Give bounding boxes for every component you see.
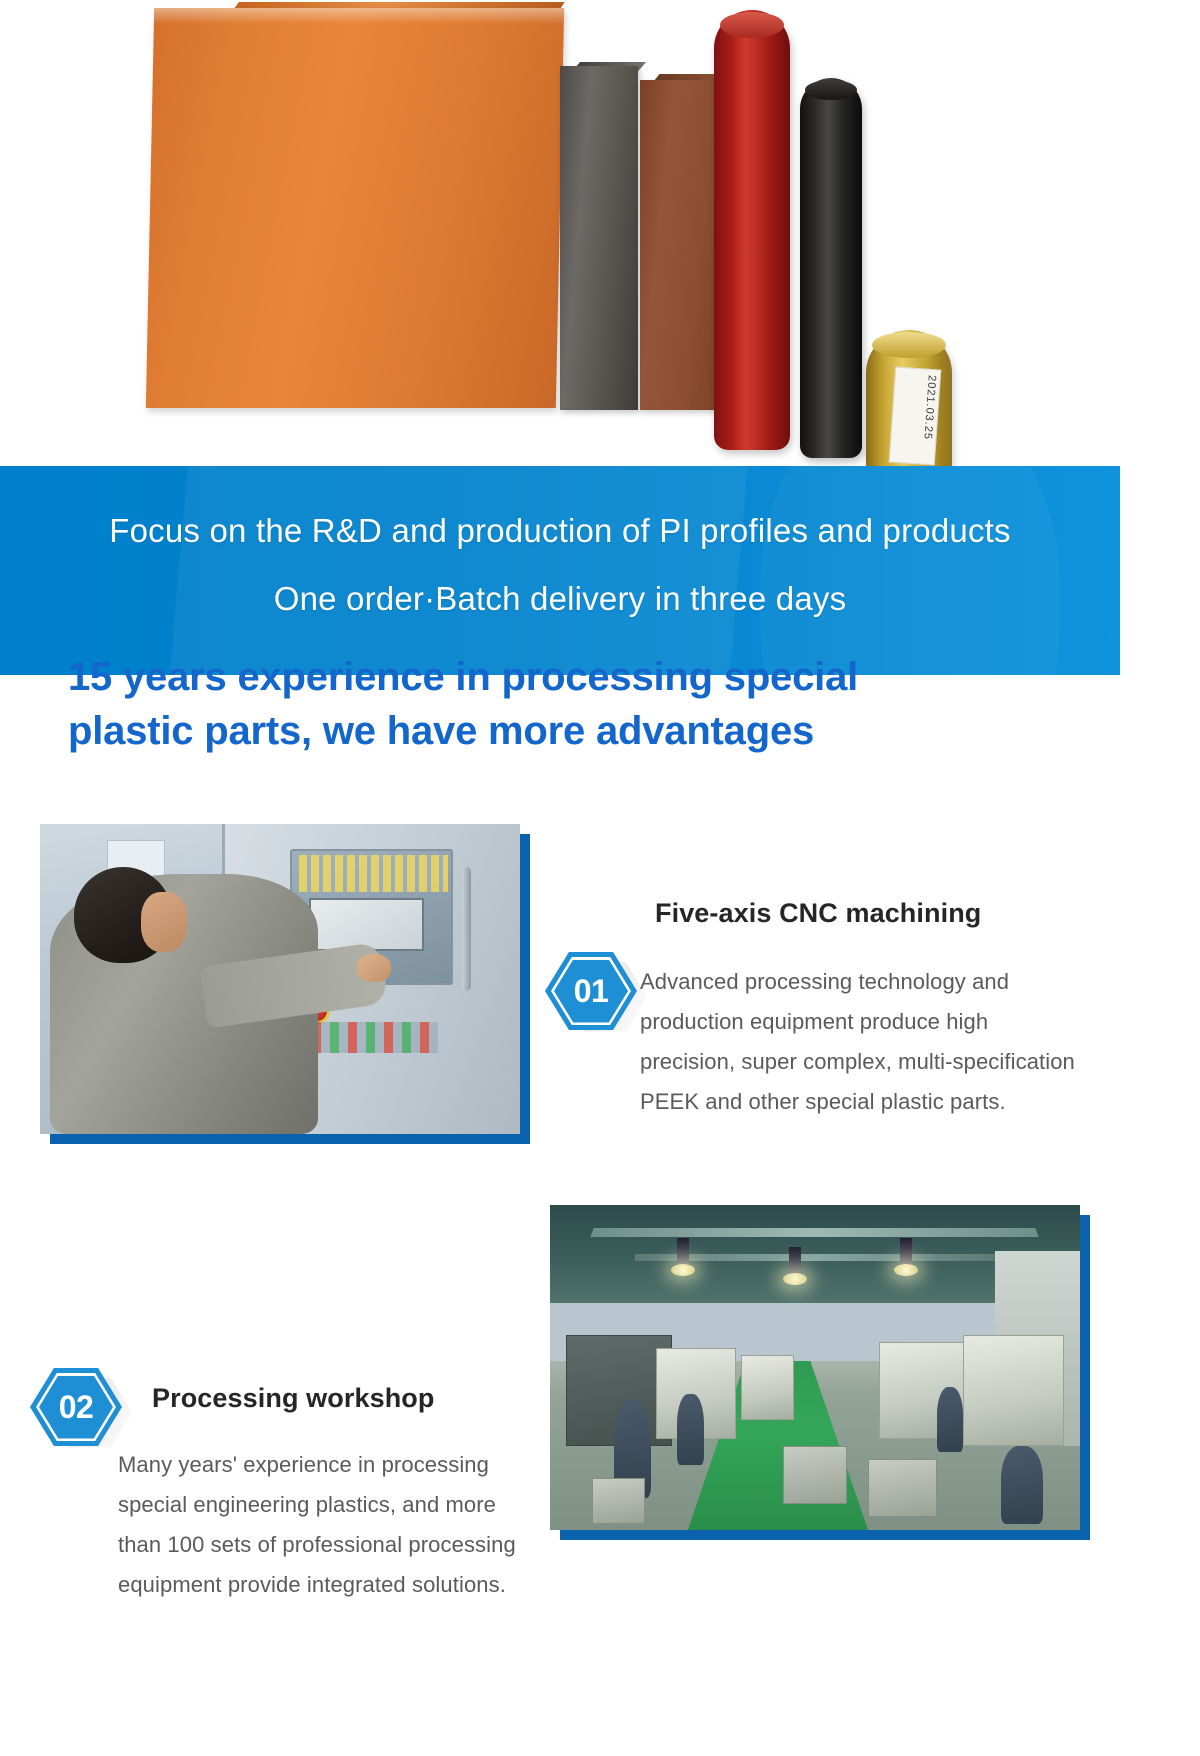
section-heading-line-1: 15 years experience in processing specia…: [68, 650, 1088, 704]
ceiling-lamp: [789, 1247, 801, 1277]
operator-hand: [357, 954, 391, 982]
section-heading: 15 years experience in processing specia…: [68, 650, 1088, 758]
workshop-worker: [1001, 1446, 1043, 1524]
material-cart: [868, 1459, 937, 1518]
feature-02-body: Many years' experience in processing spe…: [118, 1445, 533, 1605]
badge-01: 01: [545, 952, 637, 1030]
ceiling-lamp: [677, 1238, 689, 1268]
badge-02: 02: [30, 1368, 122, 1446]
feature-01-text: Five-axis CNC machining: [655, 900, 1085, 927]
feature-01-body-wrap: Advanced processing technology and produ…: [640, 962, 1080, 1122]
material-cart: [783, 1446, 847, 1505]
feature-02-title: Processing workshop: [152, 1385, 552, 1412]
banner-line-1: Focus on the R&D and production of PI pr…: [0, 512, 1120, 550]
control-keypad: [299, 855, 448, 892]
feature-02-photo: [550, 1205, 1090, 1540]
operator-face: [141, 892, 187, 952]
material-cart: [592, 1478, 645, 1524]
workshop-worker: [937, 1387, 964, 1452]
feature-02-body-wrap: Many years' experience in processing spe…: [118, 1445, 533, 1605]
feature-02-title-wrap: Processing workshop: [152, 1385, 552, 1412]
cnc-machine: [741, 1355, 794, 1420]
rod-date-label: 2021.03.25: [889, 367, 942, 466]
cnc-machining-photo: [40, 824, 520, 1134]
red-rod: [714, 10, 790, 450]
feature-01-body: Advanced processing technology and produ…: [640, 962, 1080, 1122]
cnc-photo-frame: [40, 824, 520, 1134]
banner-sheen-left: [162, 466, 759, 675]
badge-number: 02: [59, 1389, 94, 1426]
orange-phenolic-sheet: [146, 8, 564, 408]
ceiling-lamp: [900, 1238, 912, 1268]
workshop-photo-frame: [550, 1205, 1080, 1530]
badge-number: 01: [574, 973, 609, 1010]
cabinet-door-handle: [462, 867, 471, 991]
banner-line-2: One order·Batch delivery in three days: [0, 580, 1120, 618]
feature-01-badge: 01: [545, 952, 655, 1042]
hero-banner: Focus on the R&D and production of PI pr…: [0, 466, 1120, 675]
grey-sheet: [560, 66, 638, 410]
product-marketing-page: 2021.03.25 Focus on the R&D and producti…: [0, 0, 1200, 1756]
black-rod: [800, 78, 862, 458]
feature-01-photo: [40, 824, 530, 1144]
banner-sheen-right: [760, 466, 1060, 675]
feature-01-title: Five-axis CNC machining: [655, 900, 1085, 927]
workshop-worker: [677, 1394, 704, 1466]
ceiling-duct-1: [591, 1228, 1039, 1237]
workshop-photo: [550, 1205, 1080, 1530]
control-screen: [309, 898, 424, 951]
cnc-machine: [963, 1335, 1064, 1446]
section-heading-line-2: plastic parts, we have more advantages: [68, 704, 1088, 758]
